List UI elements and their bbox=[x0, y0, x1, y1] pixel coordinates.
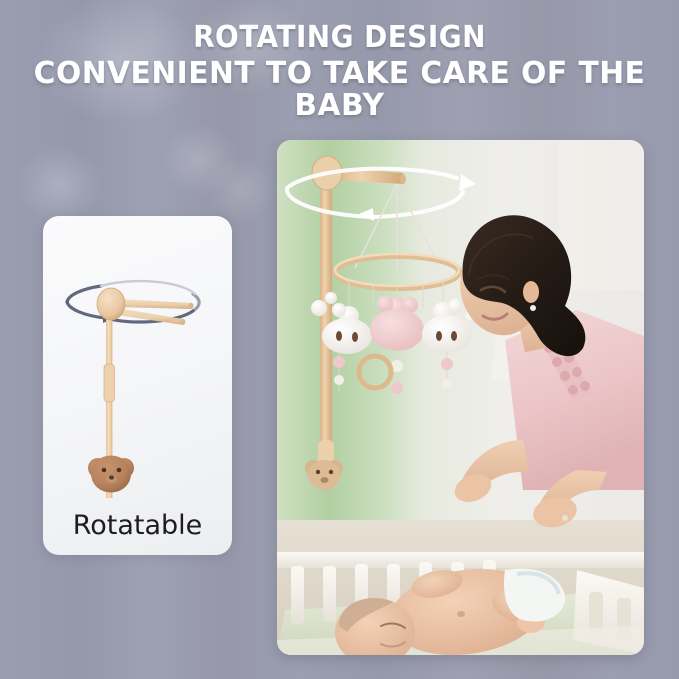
headline-line-2: CONVENIENT TO TAKE CARE OF THE BABY bbox=[3, 58, 675, 122]
rotatable-label: Rotatable bbox=[43, 510, 232, 541]
page-title: ROTATING DESIGN CONVENIENT TO TAKE CARE … bbox=[0, 22, 679, 121]
product-feature-image: ROTATING DESIGN CONVENIENT TO TAKE CARE … bbox=[0, 0, 679, 679]
lifestyle-photo bbox=[277, 140, 644, 655]
window-light bbox=[559, 140, 644, 290]
headline-line-1: ROTATING DESIGN bbox=[24, 22, 655, 54]
rotatable-feature-card: Rotatable bbox=[43, 216, 232, 555]
pivot-disc bbox=[97, 288, 125, 320]
bear-head-icon bbox=[88, 456, 134, 493]
rotatable-diagram bbox=[43, 216, 232, 498]
post-joint bbox=[104, 364, 115, 402]
